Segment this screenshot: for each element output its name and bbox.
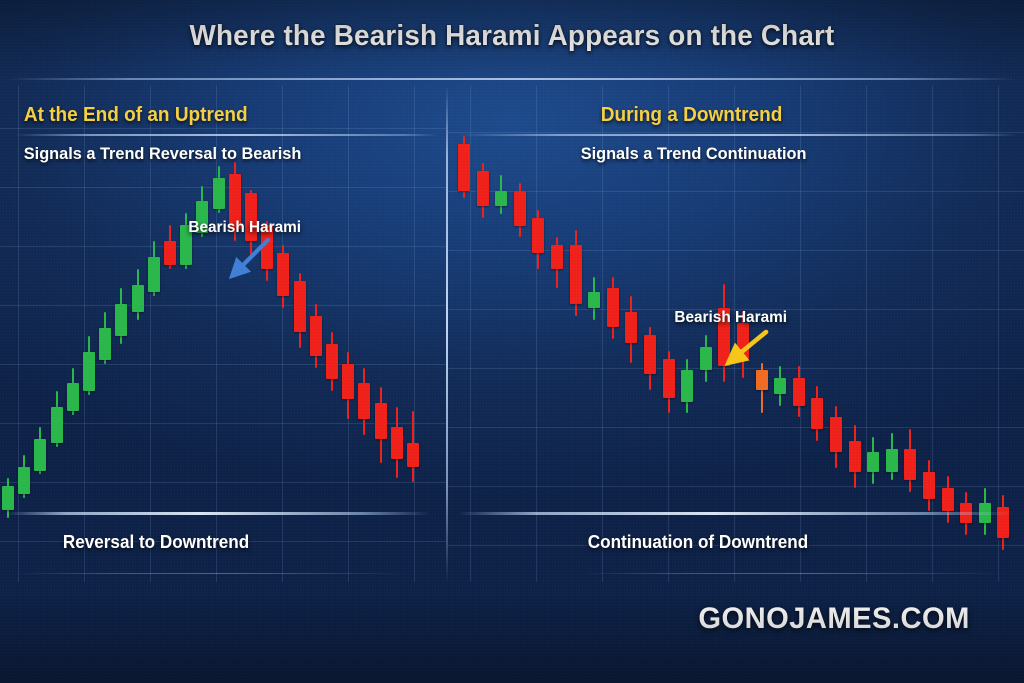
candlestick <box>532 86 544 582</box>
panel-bottom-rule <box>6 512 430 515</box>
candlestick-body <box>277 253 289 297</box>
annotation-arrow-left <box>222 236 274 284</box>
panel-bottom-rule <box>458 512 1014 515</box>
panel-title-rule <box>458 134 1018 136</box>
candlestick-body <box>458 144 470 191</box>
candlestick-body <box>310 316 322 356</box>
candlestick <box>960 86 972 582</box>
candlestick <box>375 86 387 582</box>
candlestick-body <box>115 304 127 336</box>
candlestick <box>391 86 403 582</box>
candlestick-body <box>67 383 79 411</box>
candlestick-body <box>51 407 63 443</box>
candlestick-body <box>407 443 419 467</box>
candlestick-body <box>923 472 935 499</box>
candlestick-body <box>607 288 619 327</box>
candlestick-body <box>700 347 712 370</box>
candlestick <box>886 86 898 582</box>
candlestick-body <box>132 285 144 313</box>
candlestick-body <box>294 281 306 332</box>
candlestick <box>458 86 470 582</box>
candlestick-body <box>391 427 403 459</box>
panel-title-rule <box>14 134 438 136</box>
candlestick-body <box>756 370 768 390</box>
candlestick-body <box>99 328 111 360</box>
candlestick-body <box>148 257 160 293</box>
panel-caption-downtrend: Continuation of Downtrend <box>588 532 808 553</box>
gridline-vertical <box>470 86 471 582</box>
candlestick-body <box>326 344 338 380</box>
candlestick-body <box>375 403 387 439</box>
candlestick <box>2 86 14 582</box>
candlestick-body <box>793 378 805 405</box>
title-divider <box>8 78 1016 80</box>
panel-title-uptrend: At the End of an Uptrend <box>24 104 248 127</box>
candlestick-body <box>2 486 14 510</box>
candlestick-body <box>663 359 675 398</box>
candlestick-body <box>681 370 693 401</box>
candlestick <box>551 86 563 582</box>
candlestick-body <box>551 245 563 268</box>
candlestick <box>358 86 370 582</box>
candlestick <box>811 86 823 582</box>
candlestick <box>942 86 954 582</box>
candlestick-body <box>495 191 507 207</box>
candlestick-body <box>811 398 823 429</box>
candlestick-body <box>532 218 544 253</box>
candlestick <box>342 86 354 582</box>
candlestick-body <box>570 245 582 304</box>
candlestick <box>495 86 507 582</box>
panel-subtitle-downtrend: Signals a Trend Continuation <box>581 144 807 164</box>
panel-title-downtrend: During a Downtrend <box>601 104 783 127</box>
candlestick <box>310 86 322 582</box>
candlestick <box>979 86 991 582</box>
candlestick-body <box>83 352 95 392</box>
panel-subtitle-uptrend: Signals a Trend Reversal to Bearish <box>24 144 302 164</box>
panel-bottom-rule-secondary <box>578 573 1008 574</box>
candlestick-body <box>588 292 600 308</box>
candlestick-body <box>213 178 225 210</box>
candlestick-body <box>644 335 656 374</box>
annotation-label-bearish-harami-right: Bearish Harami <box>674 309 787 327</box>
candlestick-body <box>904 449 916 480</box>
candlestick <box>923 86 935 582</box>
page-title: Where the Bearish Harami Appears on the … <box>20 20 1003 53</box>
annotation-label-bearish-harami-left: Bearish Harami <box>188 219 301 237</box>
candlestick-body <box>774 378 786 394</box>
candlestick <box>904 86 916 582</box>
panel-bottom-rule-secondary <box>12 573 412 574</box>
candlestick <box>830 86 842 582</box>
candlestick-body <box>625 312 637 343</box>
candlestick-body <box>849 441 861 472</box>
candlestick <box>477 86 489 582</box>
site-watermark: GONOJAMES.COM <box>15 602 1008 636</box>
candlestick-body <box>867 452 879 472</box>
candlestick-body <box>830 417 842 452</box>
panel-caption-uptrend: Reversal to Downtrend <box>63 532 249 553</box>
infographic-canvas: Where the Bearish Harami Appears on the … <box>0 0 1024 683</box>
annotation-arrow-right <box>718 328 772 372</box>
candlestick <box>407 86 419 582</box>
candlestick-body <box>477 171 489 206</box>
candlestick-body <box>342 364 354 400</box>
candlestick-body <box>514 191 526 226</box>
candlestick-body <box>164 241 176 265</box>
candlestick <box>997 86 1009 582</box>
candlestick-body <box>34 439 46 471</box>
panel-uptrend: At the End of an Uptrend Signals a Trend… <box>0 86 446 582</box>
candlestick <box>867 86 879 582</box>
candlestick <box>514 86 526 582</box>
candlestick-body <box>358 383 370 419</box>
candlestick <box>326 86 338 582</box>
candlestick-body <box>886 449 898 472</box>
candlestick-body <box>942 488 954 511</box>
candlestick-body <box>18 467 30 495</box>
candlestick <box>849 86 861 582</box>
